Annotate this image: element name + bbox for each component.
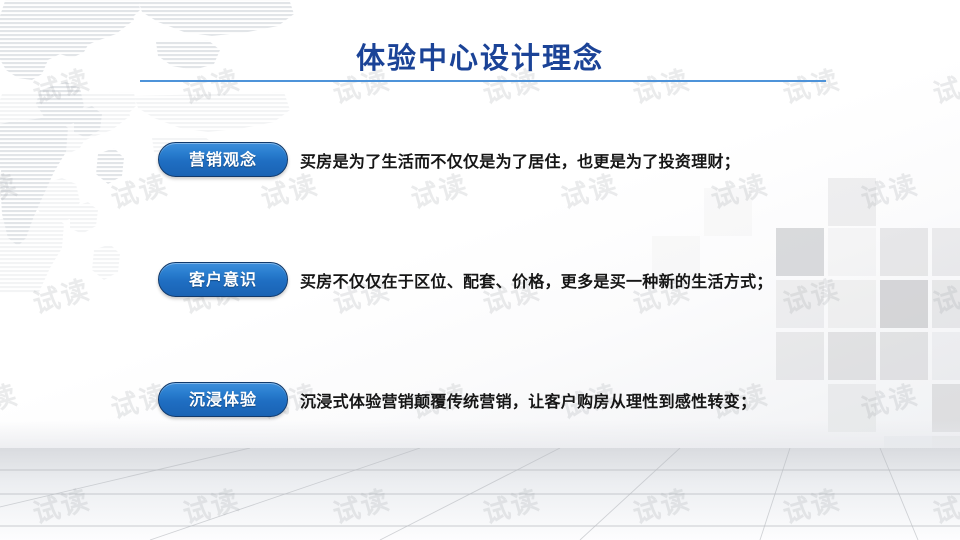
pill-label-text: 沉浸体验: [189, 392, 257, 408]
concept-description-text: 沉浸式体验营销颠覆传统营销，让客户购房从理性到感性转变；: [300, 388, 756, 412]
concept-row: 营销观念 买房是为了生活而不仅仅是为了居住，也更是为了投资理财；: [158, 142, 740, 177]
concept-rows: 营销观念 买房是为了生活而不仅仅是为了居住，也更是为了投资理财； 客户意识 买房…: [0, 0, 960, 540]
slide-canvas: 试读试读试读试读试读试读试读试读试读试读试读试读试读试读试读试读试读试读试读试读…: [0, 0, 960, 540]
pill-label-text: 客户意识: [189, 272, 257, 288]
concept-description-text: 买房不仅仅在于区位、配套、价格，更多是买一种新的生活方式；: [300, 268, 773, 292]
concept-description-text: 买房是为了生活而不仅仅是为了居住，也更是为了投资理财；: [300, 148, 740, 172]
concept-row: 沉浸体验 沉浸式体验营销颠覆传统营销，让客户购房从理性到感性转变；: [158, 382, 756, 417]
concept-label-pill-marketing[interactable]: 营销观念: [158, 142, 288, 177]
concept-label-pill-customer[interactable]: 客户意识: [158, 262, 288, 297]
concept-row: 客户意识 买房不仅仅在于区位、配套、价格，更多是买一种新的生活方式；: [158, 262, 773, 297]
concept-label-pill-immersive[interactable]: 沉浸体验: [158, 382, 288, 417]
pill-label-text: 营销观念: [189, 152, 257, 168]
